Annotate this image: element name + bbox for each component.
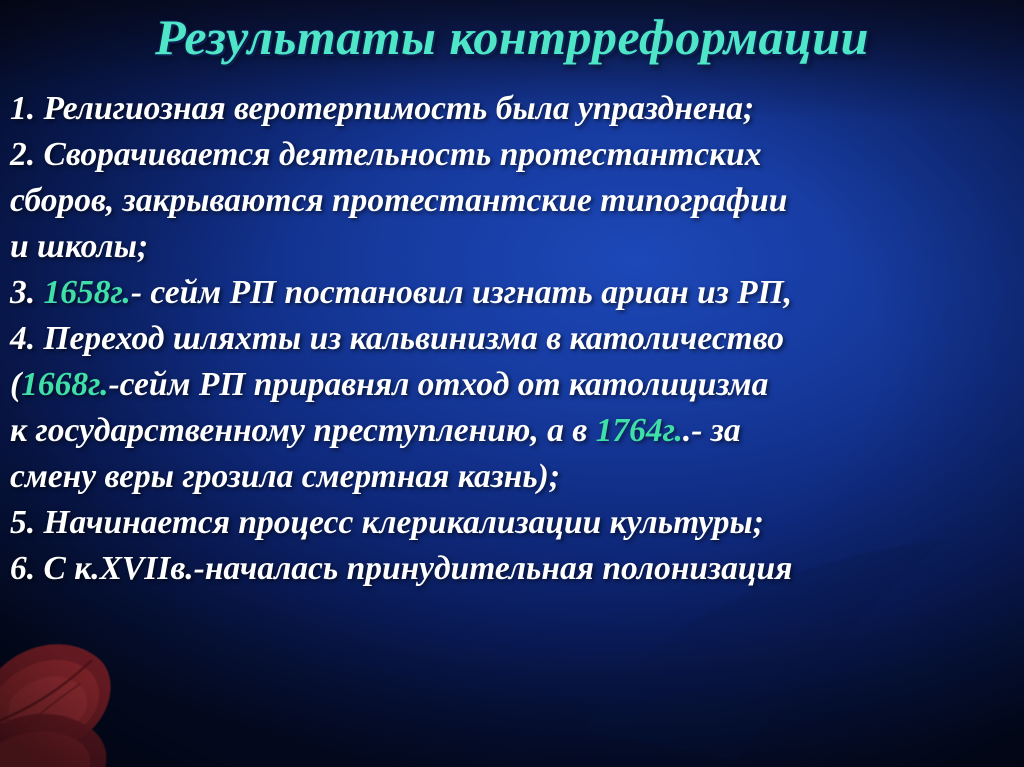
list-item-text: - сейм РП постановил изгнать ариан из РП… bbox=[131, 274, 792, 311]
list-item-text: к государственному преступлению, а в bbox=[10, 412, 596, 449]
list-item-continuation: к государственному преступлению, а в 176… bbox=[10, 408, 1020, 454]
list-item-continuation: смену веры грозила смертная казнь); bbox=[10, 454, 1020, 500]
list-item-continuation: (1668г.-сейм РП приравнял отход от катол… bbox=[10, 362, 1020, 408]
list-item: 5. Начинается процесс клерикализации кул… bbox=[10, 500, 1020, 546]
list-item-number: 3. bbox=[10, 274, 44, 311]
highlighted-year: 1658г. bbox=[44, 274, 131, 311]
results-list: 1. Религиозная веротерпимость была упраз… bbox=[10, 86, 1020, 592]
highlighted-year: 1668г. bbox=[21, 366, 108, 403]
highlighted-year: 1764г. bbox=[596, 412, 683, 449]
page-title: Результаты контрреформации bbox=[0, 8, 1024, 66]
list-item-text: -сейм РП приравнял отход от католицизма bbox=[108, 366, 768, 403]
list-item: 3. 1658г.- сейм РП постановил изгнать ар… bbox=[10, 270, 1020, 316]
open-paren: ( bbox=[10, 366, 21, 403]
list-item: 1. Религиозная веротерпимость была упраз… bbox=[10, 86, 1020, 132]
presentation-slide: Результаты контрреформации 1. Религиозна… bbox=[0, 0, 1024, 767]
list-item-continuation: сборов, закрываются протестантские типог… bbox=[10, 178, 1020, 224]
list-item: 2. Сворачивается деятельность протестант… bbox=[10, 132, 1020, 178]
list-item-text: .- за bbox=[683, 412, 741, 449]
list-item: 4. Переход шляхты из кальвинизма в катол… bbox=[10, 316, 1020, 362]
list-item: 6. С к.XVIIв.-началась принудительная по… bbox=[10, 546, 1020, 592]
list-item-continuation: и школы; bbox=[10, 224, 1020, 270]
leaf-decoration-secondary-icon bbox=[0, 690, 180, 767]
